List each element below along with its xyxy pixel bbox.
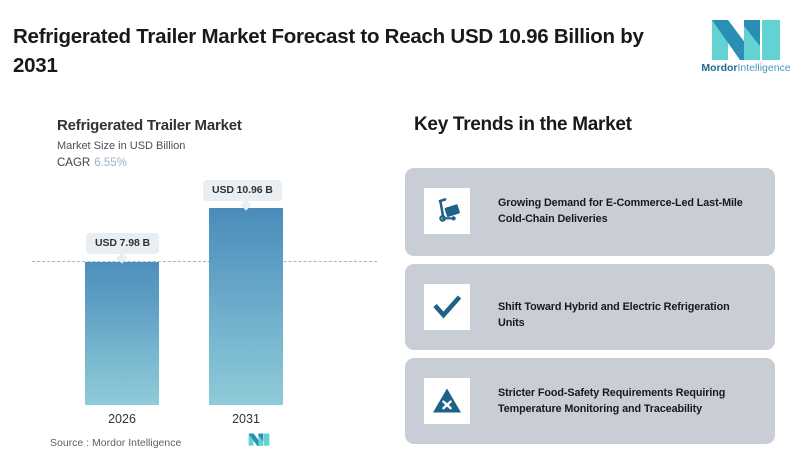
mordor-mark-icon bbox=[248, 431, 270, 447]
value-label-2031: USD 10.96 B bbox=[203, 180, 282, 201]
checkmark-icon bbox=[431, 291, 463, 323]
warning-triangle-icon bbox=[431, 385, 463, 417]
brand-logo-text: MordorIntelligence bbox=[700, 62, 792, 74]
value-label-2026: USD 7.98 B bbox=[86, 233, 159, 254]
trend-card[interactable]: Shift Toward Hybrid and Electric Refrige… bbox=[405, 264, 775, 350]
trend-card-text: Shift Toward Hybrid and Electric Refrige… bbox=[498, 299, 753, 331]
bar-2031 bbox=[209, 208, 283, 405]
key-trends-heading: Key Trends in the Market bbox=[414, 114, 632, 136]
page-title: Refrigerated Trailer Market Forecast to … bbox=[13, 22, 673, 80]
page-header: Refrigerated Trailer Market Forecast to … bbox=[0, 0, 800, 100]
mordor-logo-icon bbox=[710, 16, 782, 60]
brand-name-bold: Mordor bbox=[701, 62, 737, 74]
chart-source: Source : Mordor Intelligence bbox=[50, 437, 181, 449]
trend-card[interactable]: Growing Demand for E-Commerce-Led Last-M… bbox=[405, 168, 775, 256]
hand-truck-icon bbox=[431, 195, 463, 227]
key-trends-panel: Key Trends in the Market Growing Demand … bbox=[400, 100, 800, 448]
brand-logo: MordorIntelligence bbox=[700, 16, 792, 82]
bar-2026 bbox=[85, 262, 159, 405]
bar-chart-plot: USD 7.98 B USD 10.96 B 2026 2031 bbox=[0, 100, 400, 448]
reference-dashed-line bbox=[32, 261, 377, 262]
trend-card-text: Growing Demand for E-Commerce-Led Last-M… bbox=[498, 195, 753, 227]
trend-icon-container bbox=[424, 284, 470, 330]
trend-icon-container bbox=[424, 188, 470, 234]
trend-card-text: Stricter Food-Safety Requirements Requir… bbox=[498, 385, 753, 417]
x-axis-label-2031: 2031 bbox=[209, 412, 283, 426]
brand-name-light: Intelligence bbox=[738, 62, 791, 74]
chart-panel: Refrigerated Trailer Market Market Size … bbox=[0, 100, 400, 448]
x-axis-label-2026: 2026 bbox=[85, 412, 159, 426]
trend-icon-container bbox=[424, 378, 470, 424]
trend-card[interactable]: Stricter Food-Safety Requirements Requir… bbox=[405, 358, 775, 444]
